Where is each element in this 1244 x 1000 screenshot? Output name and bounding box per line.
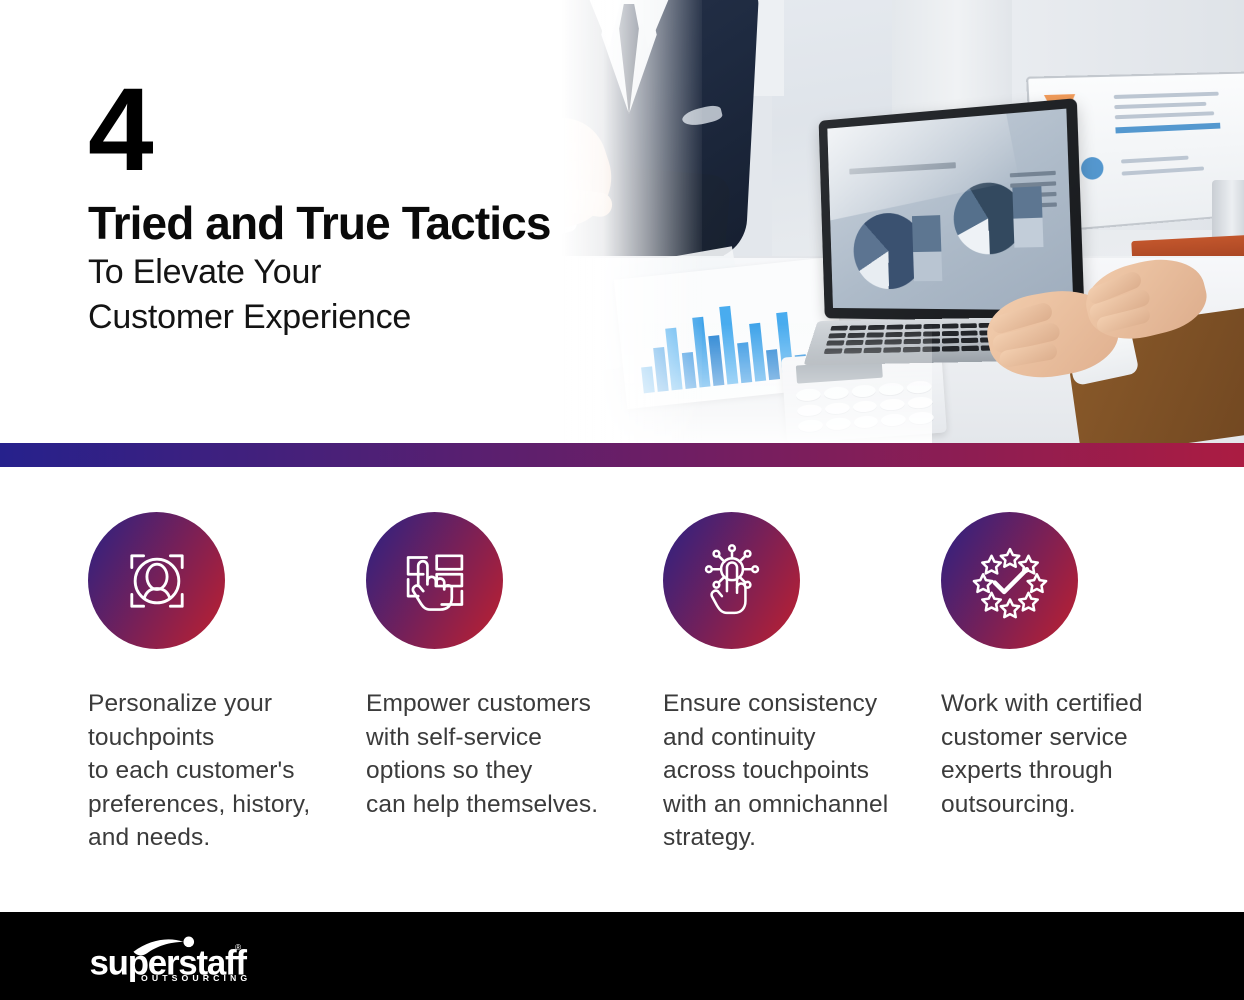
hero-photo xyxy=(512,0,1244,443)
checkmark-stars-icon xyxy=(968,539,1052,623)
tactic-icon-circle-3 xyxy=(663,512,800,649)
gradient-divider-bar xyxy=(0,443,1244,467)
tactic-card-3: Ensure consistency and continuity across… xyxy=(663,512,941,855)
person-target-icon xyxy=(115,539,199,623)
page-title: Tried and True Tactics xyxy=(88,196,551,250)
tactic-card-1: Personalize your touchpoints to each cus… xyxy=(88,512,366,855)
tactic-icon-circle-2 xyxy=(366,512,503,649)
tactic-text-3: Ensure consistency and continuity across… xyxy=(663,687,941,855)
tactic-card-2: Empower customers with self-service opti… xyxy=(366,512,644,821)
hero-section: 4 Tried and True Tactics To Elevate Your… xyxy=(0,0,1244,443)
tactic-text-4: Work with certified customer service exp… xyxy=(941,687,1219,821)
tactic-icon-circle-1 xyxy=(88,512,225,649)
logo-registered-mark: ® xyxy=(235,942,241,952)
tactic-icon-circle-4 xyxy=(941,512,1078,649)
superstaff-logo[interactable]: superstaff ® OUTSOURCING xyxy=(88,932,288,982)
hand-network-nodes-icon xyxy=(690,539,774,623)
headline-block: 4 Tried and True Tactics To Elevate Your… xyxy=(88,78,551,340)
tactic-text-2: Empower customers with self-service opti… xyxy=(366,687,644,821)
logo-tagline: OUTSOURCING xyxy=(141,973,251,982)
tactic-text-1: Personalize your touchpoints to each cus… xyxy=(88,687,366,855)
tactic-count-number: 4 xyxy=(88,78,551,182)
tactic-card-4: Work with certified customer service exp… xyxy=(941,512,1219,821)
footer-bar: superstaff ® OUTSOURCING xyxy=(0,912,1244,1000)
tactics-section: Personalize your touchpoints to each cus… xyxy=(0,467,1244,912)
photo-laptop-screen xyxy=(819,98,1085,322)
hand-menu-grid-icon xyxy=(393,539,477,623)
page-subtitle: To Elevate Your Customer Experience xyxy=(88,250,551,340)
